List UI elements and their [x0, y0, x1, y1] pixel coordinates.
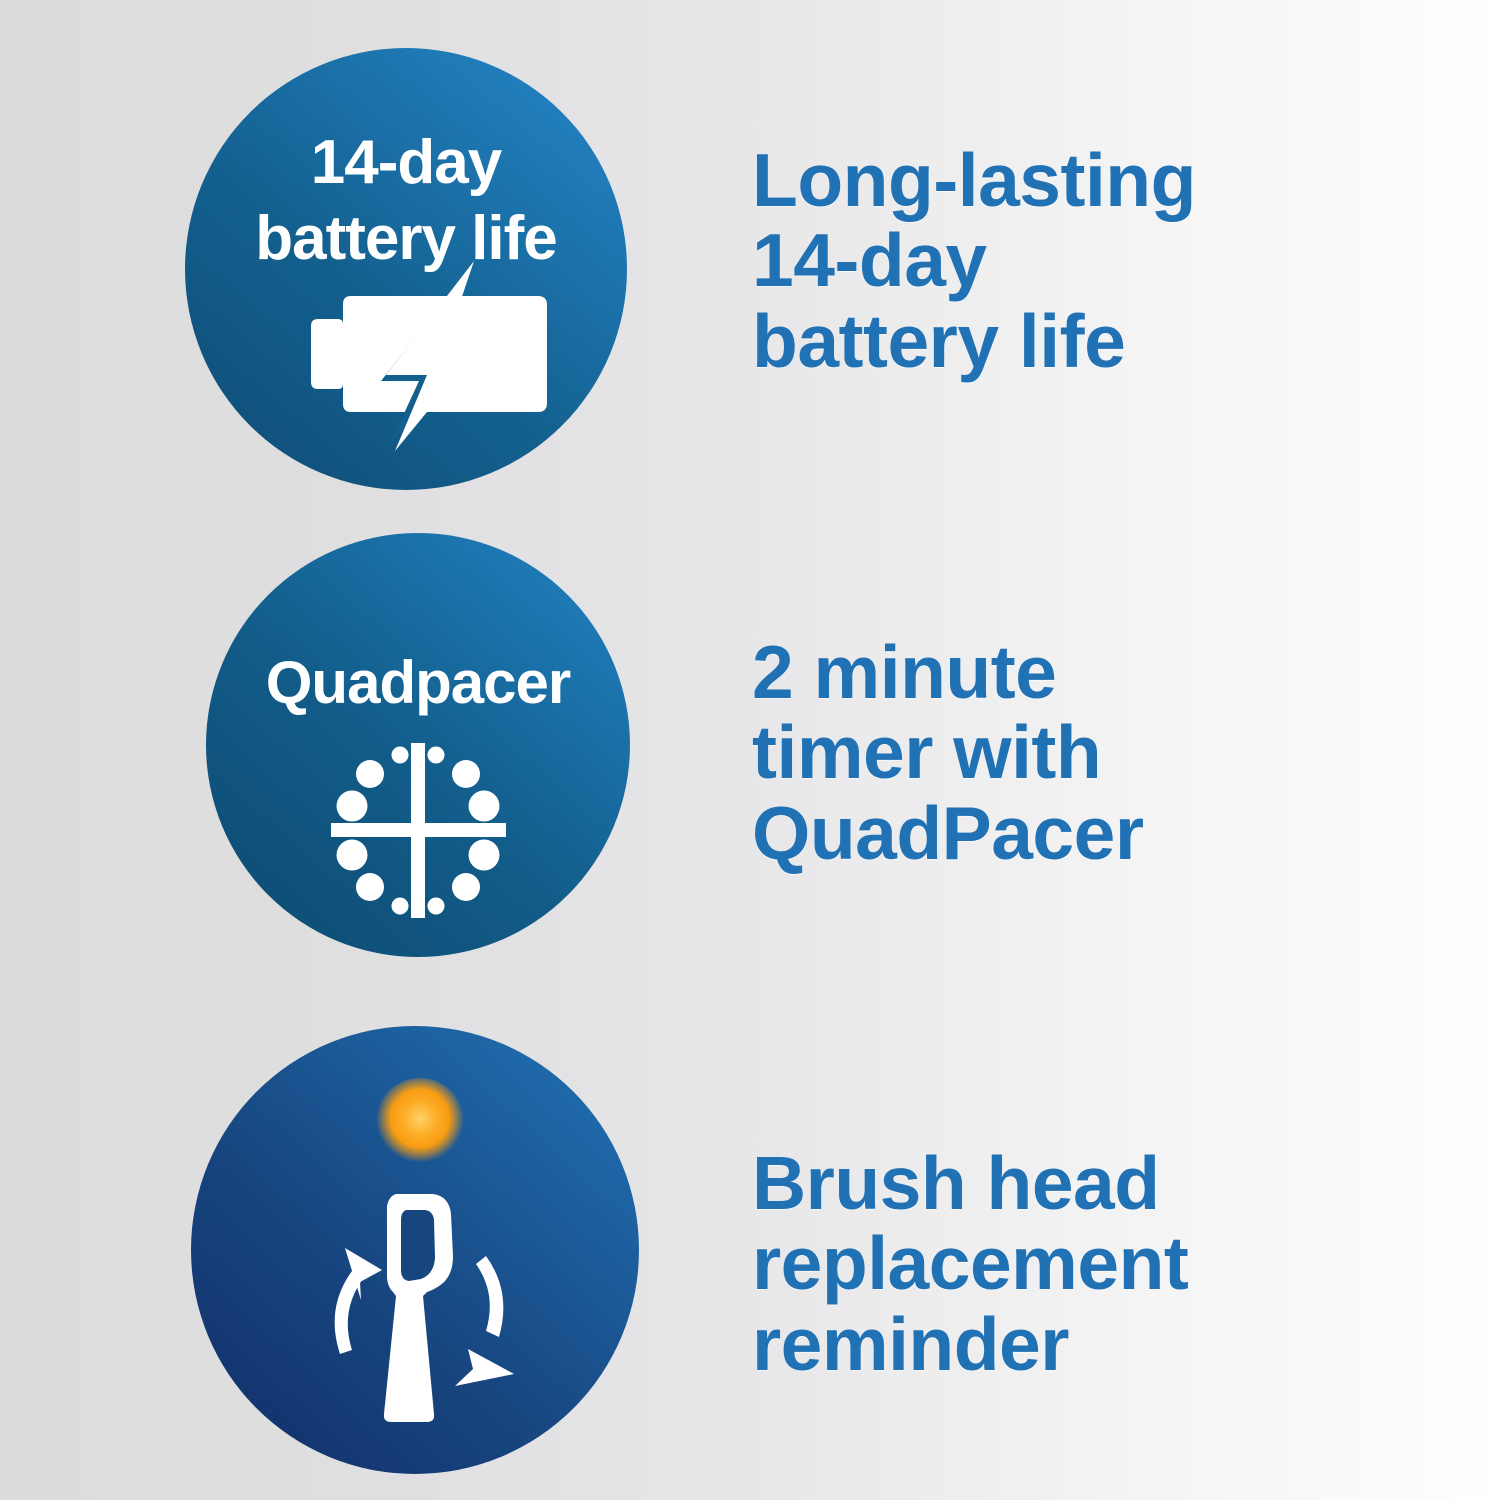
badge-quadpacer: Quadpacer — [204, 531, 632, 959]
badge-quadpacer-label: Quadpacer — [266, 649, 571, 716]
caption-quadpacer: 2 minute timer with QuadPacer — [752, 632, 1144, 873]
infographic-canvas: 14-day battery life Long-lasting 14-day … — [0, 0, 1500, 1500]
caption-brushhead: Brush head replacement reminder — [752, 1143, 1188, 1384]
badge-brushhead — [189, 1024, 641, 1476]
caption-battery: Long-lasting 14-day battery life — [752, 140, 1196, 381]
indicator-light-icon — [376, 1078, 464, 1166]
badge-battery-label-line2: battery life — [255, 204, 557, 273]
badge-battery: 14-day battery life — [183, 46, 629, 492]
badge-battery-label-line1: 14-day — [311, 128, 503, 197]
